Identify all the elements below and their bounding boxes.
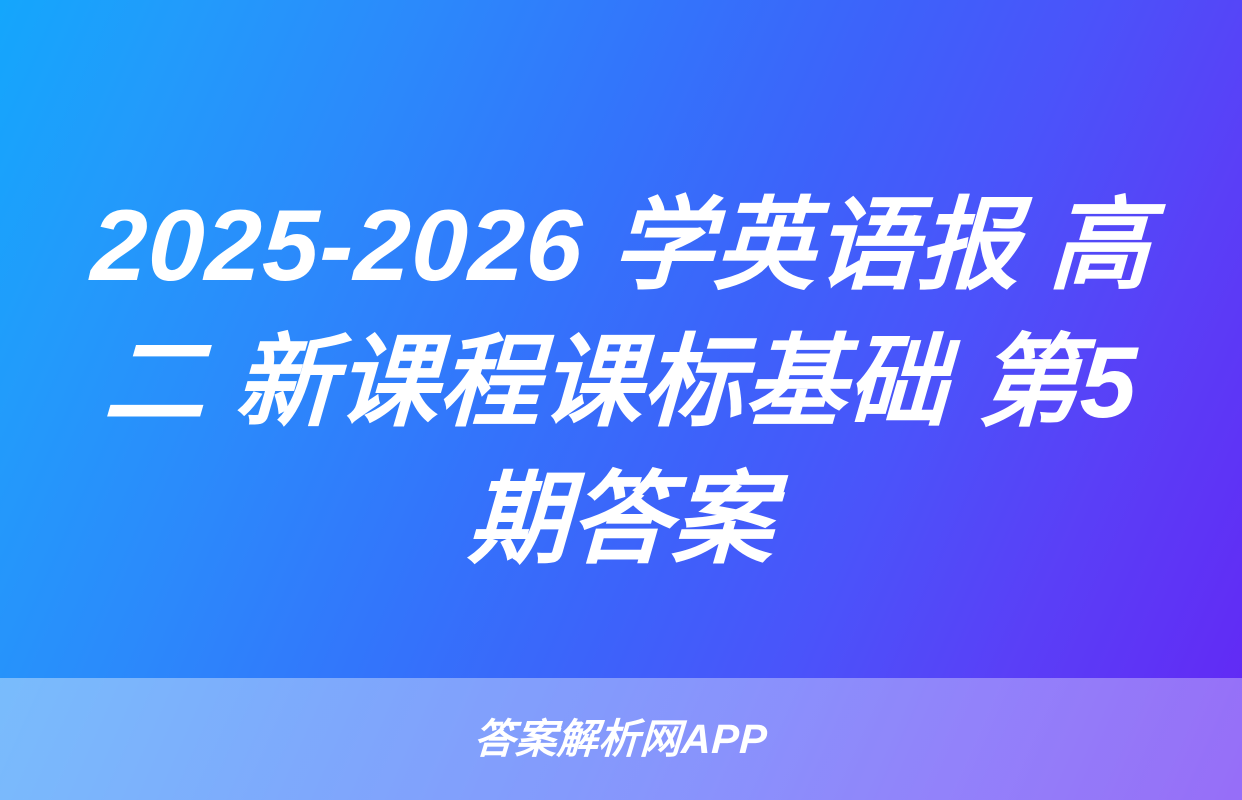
watermark-label: 答案解析网APP: [473, 719, 768, 760]
title-card: 2025-2026 学英语报 高 二 新课程课标基础 第5 期答案 答案解析网A…: [0, 0, 1242, 800]
watermark-band: 答案解析网APP: [0, 678, 1242, 800]
title-block: 2025-2026 学英语报 高 二 新课程课标基础 第5 期答案: [0, 178, 1242, 648]
title-line-1: 2025-2026 学英语报 高: [89, 178, 1154, 315]
title-line-3: 期答案: [466, 452, 777, 589]
title-line-2: 二 新课程课标基础 第5: [102, 315, 1140, 452]
